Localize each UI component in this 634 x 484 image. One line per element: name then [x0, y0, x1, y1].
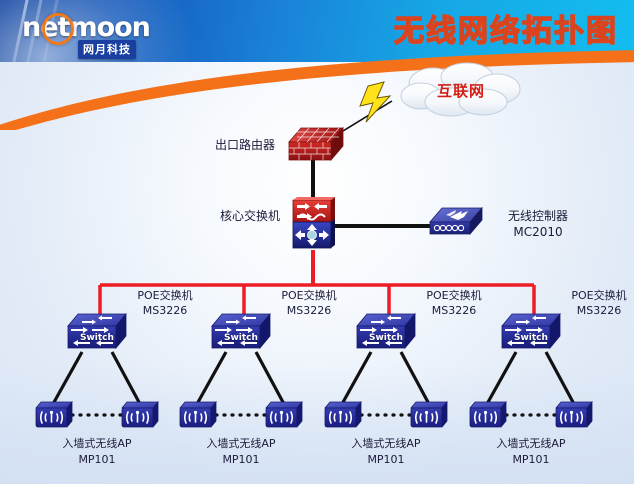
- poe-switch-4-label: POE交换机 MS3226: [544, 288, 634, 318]
- ap-1a-icon: [34, 400, 74, 430]
- egress-router-icon: [287, 126, 345, 166]
- core-switch-icon: [289, 196, 337, 252]
- link-poe-to-ap: [342, 352, 371, 404]
- wireless-controller-name: 无线控制器: [478, 208, 598, 224]
- ap-group-1-label: 入墙式无线AP MP101: [42, 436, 152, 468]
- ap-group-4-name: 入墙式无线AP: [476, 436, 586, 452]
- ap-group-3-model: MP101: [331, 452, 441, 468]
- poe-switch-1-model: MS3226: [110, 303, 220, 318]
- lightning-bolt-icon: [343, 82, 392, 131]
- link-poe-to-ap: [197, 352, 226, 404]
- poe-switch-3-label: POE交换机 MS3226: [399, 288, 509, 318]
- ap-1b-icon: [120, 400, 160, 430]
- wireless-controller-icon: [428, 206, 484, 240]
- poe-switch-4-model: MS3226: [544, 303, 634, 318]
- poe-switch-2-label: POE交换机 MS3226: [254, 288, 364, 318]
- poe-switch-1-name: POE交换机: [110, 288, 220, 303]
- wireless-controller-label: 无线控制器 MC2010: [478, 208, 598, 240]
- poe-switch-4-icon: Switch: [500, 312, 562, 354]
- poe-switch-3-model: MS3226: [399, 303, 509, 318]
- ap-4b-icon: [554, 400, 594, 430]
- internet-cloud-label: 互联网: [391, 80, 531, 101]
- wireless-controller-model: MC2010: [478, 224, 598, 240]
- link-poe-to-ap: [112, 352, 140, 404]
- ap-group-2-name: 入墙式无线AP: [186, 436, 296, 452]
- ap-group-1-name: 入墙式无线AP: [42, 436, 152, 452]
- ap-2b-icon: [264, 400, 304, 430]
- ap-group-2-label: 入墙式无线AP MP101: [186, 436, 296, 468]
- ap-group-4-label: 入墙式无线AP MP101: [476, 436, 586, 468]
- ap-group-1-model: MP101: [42, 452, 152, 468]
- link-poe-to-ap: [546, 352, 574, 404]
- ap-group-3-label: 入墙式无线AP MP101: [331, 436, 441, 468]
- link-poe-to-ap: [256, 352, 284, 404]
- core-switch-label: 核心交换机: [185, 209, 280, 223]
- ap-group-2-model: MP101: [186, 452, 296, 468]
- poe-switch-4-name: POE交换机: [544, 288, 634, 303]
- poe-switch-2-icon: Switch: [210, 312, 272, 354]
- poe-switch-1-icon: Switch: [66, 312, 128, 354]
- poe-switch-3-name: POE交换机: [399, 288, 509, 303]
- topology-slide: netmoon 网月科技 无线网络拓扑图: [0, 0, 634, 484]
- ap-group-3-name: 入墙式无线AP: [331, 436, 441, 452]
- link-poe-to-ap: [401, 352, 429, 404]
- poe-switch-2-model: MS3226: [254, 303, 364, 318]
- link-poe-to-ap: [487, 352, 516, 404]
- poe-switch-2-name: POE交换机: [254, 288, 364, 303]
- ap-3b-icon: [409, 400, 449, 430]
- poe-switch-3-icon: Switch: [355, 312, 417, 354]
- ap-2a-icon: [178, 400, 218, 430]
- link-poe-to-ap: [53, 352, 82, 404]
- ap-group-4-model: MP101: [476, 452, 586, 468]
- egress-router-label: 出口路由器: [180, 138, 275, 152]
- poe-switch-1-label: POE交换机 MS3226: [110, 288, 220, 318]
- ap-3a-icon: [323, 400, 363, 430]
- ap-4a-icon: [468, 400, 508, 430]
